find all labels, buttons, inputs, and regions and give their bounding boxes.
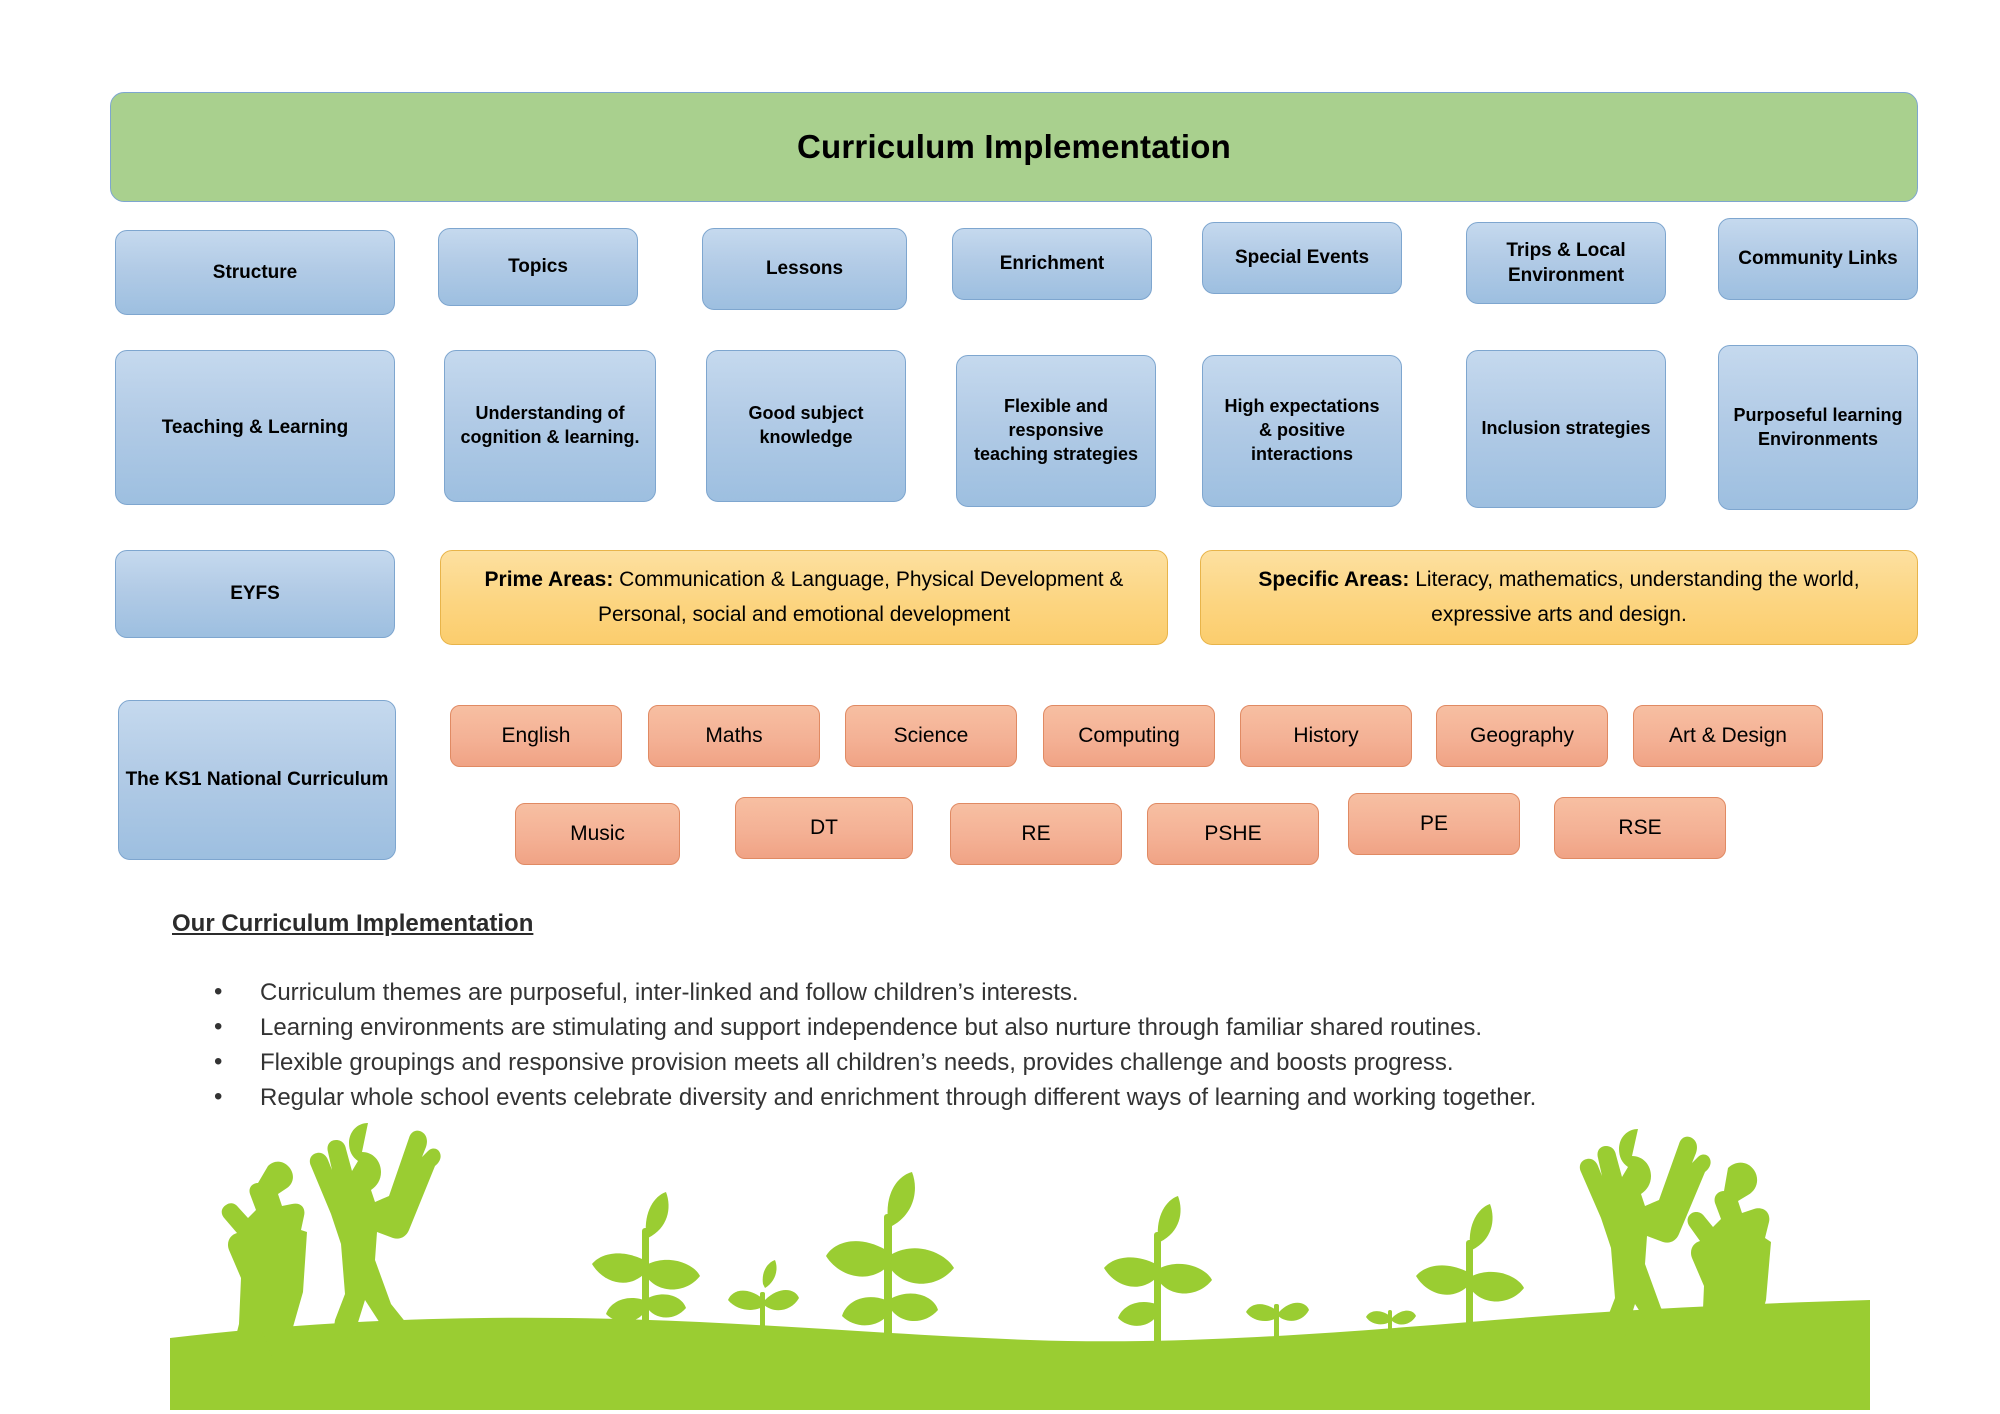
category-ks1-label: The KS1 National Curriculum (126, 767, 389, 792)
teaching-item-subject-knowledge: Good subject knowledge (706, 350, 906, 502)
teaching-item-flexible-responsive: Flexible and responsive teaching strateg… (956, 355, 1156, 507)
teaching-item-label: Understanding of cognition & learning. (459, 402, 641, 450)
structure-item-enrichment: Enrichment (952, 228, 1152, 300)
subject-maths: Maths (648, 705, 820, 767)
teaching-item-purposeful-environments: Purposeful learning Environments (1718, 345, 1918, 510)
summary-bullet-list: Curriculum themes are purposeful, inter-… (200, 975, 1900, 1115)
subject-english: English (450, 705, 622, 767)
structure-item-label: Special Events (1235, 245, 1369, 270)
eyfs-specific-areas: Specific Areas: Literacy, mathematics, u… (1200, 550, 1918, 645)
structure-item-label: Trips & Local Environment (1467, 238, 1665, 288)
structure-item-topics: Topics (438, 228, 638, 306)
subject-computing: Computing (1043, 705, 1215, 767)
subject-art-and-design: Art & Design (1633, 705, 1823, 767)
eyfs-specific-areas-text: Specific Areas: Literacy, mathematics, u… (1219, 563, 1899, 631)
footer-illustration (170, 1110, 1870, 1410)
category-eyfs: EYFS (115, 550, 395, 638)
category-structure: Structure (115, 230, 395, 315)
teaching-item-label: High expectations & positive interaction… (1217, 395, 1387, 466)
category-eyfs-label: EYFS (230, 581, 280, 606)
subject-label: English (502, 724, 571, 748)
structure-item-community-links: Community Links (1718, 218, 1918, 300)
teaching-item-label: Good subject knowledge (721, 402, 891, 450)
structure-item-label: Enrichment (1000, 251, 1105, 276)
subject-label: Geography (1470, 724, 1574, 748)
subject-science: Science (845, 705, 1017, 767)
structure-item-trips-local-environment: Trips & Local Environment (1466, 222, 1666, 304)
category-teaching-learning: Teaching & Learning (115, 350, 395, 505)
document-page: Curriculum Implementation Structure Topi… (0, 0, 2000, 1414)
page-title: Curriculum Implementation (797, 128, 1231, 166)
subject-label: RSE (1618, 816, 1661, 840)
eyfs-prime-areas-label: Prime Areas: (485, 568, 614, 591)
eyfs-prime-areas-body: Communication & Language, Physical Devel… (598, 568, 1124, 625)
subject-label: History (1293, 724, 1358, 748)
teaching-item-label: Purposeful learning Environments (1733, 404, 1903, 452)
subject-pshe: PSHE (1147, 803, 1319, 865)
eyfs-specific-areas-body: Literacy, mathematics, understanding the… (1409, 568, 1859, 625)
category-structure-label: Structure (213, 260, 297, 285)
structure-item-special-events: Special Events (1202, 222, 1402, 294)
eyfs-prime-areas: Prime Areas: Communication & Language, P… (440, 550, 1168, 645)
teaching-item-inclusion-strategies: Inclusion strategies (1466, 350, 1666, 508)
subject-label: PSHE (1204, 822, 1261, 846)
page-banner: Curriculum Implementation (110, 92, 1918, 202)
teaching-item-label: Flexible and responsive teaching strateg… (971, 395, 1141, 466)
subject-geography: Geography (1436, 705, 1608, 767)
list-item: Flexible groupings and responsive provis… (200, 1045, 1900, 1080)
teaching-item-high-expectations: High expectations & positive interaction… (1202, 355, 1402, 507)
subject-history: History (1240, 705, 1412, 767)
list-item: Learning environments are stimulating an… (200, 1010, 1900, 1045)
subject-label: PE (1420, 812, 1448, 836)
subject-music: Music (515, 803, 680, 865)
subject-re: RE (950, 803, 1122, 865)
children-and-plants-art (170, 1110, 1870, 1410)
category-teaching-learning-label: Teaching & Learning (162, 415, 349, 440)
eyfs-specific-areas-label: Specific Areas: (1258, 568, 1409, 591)
subject-label: Computing (1078, 724, 1180, 748)
structure-item-lessons: Lessons (702, 228, 907, 310)
structure-item-label: Topics (508, 254, 568, 279)
teaching-item-cognition: Understanding of cognition & learning. (444, 350, 656, 502)
summary-heading: Our Curriculum Implementation (172, 910, 533, 938)
eyfs-prime-areas-text: Prime Areas: Communication & Language, P… (459, 563, 1149, 631)
subject-label: DT (810, 816, 838, 840)
list-item: Curriculum themes are purposeful, inter-… (200, 975, 1900, 1010)
structure-item-label: Lessons (766, 256, 843, 281)
subject-label: RE (1021, 822, 1050, 846)
subject-label: Maths (705, 724, 762, 748)
structure-item-label: Community Links (1738, 246, 1897, 271)
subject-label: Music (570, 822, 625, 846)
subject-label: Art & Design (1669, 724, 1787, 748)
subject-dt: DT (735, 797, 913, 859)
subject-label: Science (894, 724, 969, 748)
subject-rse: RSE (1554, 797, 1726, 859)
subject-pe: PE (1348, 793, 1520, 855)
teaching-item-label: Inclusion strategies (1481, 417, 1650, 441)
category-ks1-national-curriculum: The KS1 National Curriculum (118, 700, 396, 860)
